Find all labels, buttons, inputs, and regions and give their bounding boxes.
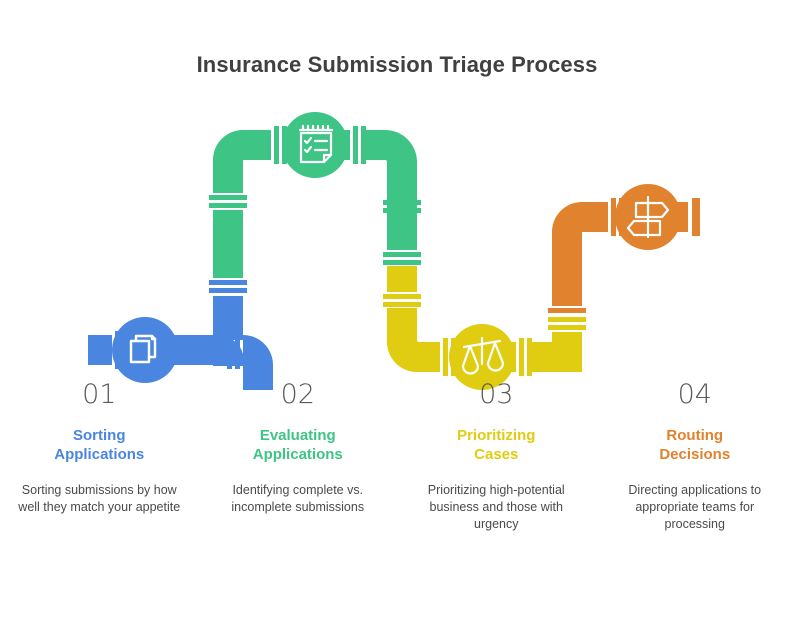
step-title-01: Sorting Applications xyxy=(18,426,181,464)
step-column-02: 02 Evaluating Applications Identifying c… xyxy=(199,380,398,533)
steps-row: 01 Sorting Applications Sorting submissi… xyxy=(0,380,794,533)
page-title: Insurance Submission Triage Process xyxy=(0,52,794,78)
step-title-line1: Sorting xyxy=(18,426,181,445)
step-number-04: 04 xyxy=(614,380,777,410)
step-title-line2: Applications xyxy=(217,445,380,464)
step-title-line2: Cases xyxy=(415,445,578,464)
step-column-03: 03 Prioritizing Cases Prioritizing high-… xyxy=(397,380,596,533)
step-column-01: 01 Sorting Applications Sorting submissi… xyxy=(0,380,199,533)
step-title-line1: Prioritizing xyxy=(415,426,578,445)
step-number-02: 02 xyxy=(217,380,380,410)
step-column-04: 04 Routing Decisions Directing applicati… xyxy=(596,380,794,533)
step-title-line1: Evaluating xyxy=(217,426,380,445)
step-title-line2: Applications xyxy=(18,445,181,464)
node-icon-checklist-notepad[interactable] xyxy=(282,112,348,178)
step-title-04: Routing Decisions xyxy=(614,426,777,464)
step-number-03: 03 xyxy=(415,380,578,410)
step-title-line2: Decisions xyxy=(614,445,777,464)
step-description-01: Sorting submissions by how well they mat… xyxy=(18,482,181,516)
step-description-04: Directing applications to appropriate te… xyxy=(614,482,777,533)
pipeline-diagram xyxy=(0,100,794,390)
step-title-02: Evaluating Applications xyxy=(217,426,380,464)
step-number-01: 01 xyxy=(18,380,181,410)
step-description-03: Prioritizing high-potential business and… xyxy=(415,482,578,533)
node-icon-signpost[interactable] xyxy=(615,184,681,250)
node-icon-documents[interactable] xyxy=(112,317,178,383)
step-title-line1: Routing xyxy=(614,426,777,445)
step-title-03: Prioritizing Cases xyxy=(415,426,578,464)
step-description-02: Identifying complete vs. incomplete subm… xyxy=(217,482,380,516)
